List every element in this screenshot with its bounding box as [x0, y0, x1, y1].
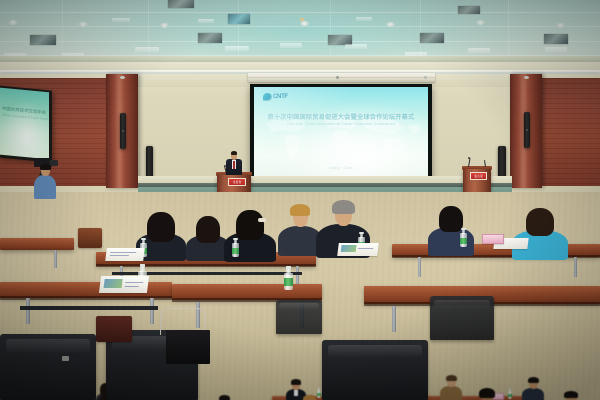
conference-hall-photo: CNTF 第十次中国国际贸易促进大会暨全球合作论坛开幕式 The 10th Ch…	[0, 0, 600, 400]
handbag	[96, 316, 132, 342]
wall-upper-band	[138, 74, 252, 87]
document	[337, 243, 379, 256]
document	[105, 248, 145, 261]
document	[99, 276, 149, 293]
attendee	[212, 396, 236, 400]
water-bottle	[232, 238, 239, 257]
ceiling-vent	[420, 33, 444, 43]
chair	[322, 340, 428, 400]
stage-wall-base	[138, 176, 512, 183]
ceiling-vent	[168, 0, 194, 8]
chair	[276, 300, 322, 334]
ceiling-vent	[458, 6, 480, 14]
cameraman	[34, 164, 56, 198]
chair	[0, 334, 96, 400]
podium-speaker	[226, 150, 242, 174]
attendee	[512, 210, 568, 258]
attendee	[296, 396, 322, 400]
ceiling-vent	[228, 14, 250, 24]
main-podium-sign: 主 席 台	[228, 178, 246, 186]
screen-glare	[254, 87, 428, 177]
ceiling-vent	[198, 33, 222, 43]
water-bottle	[460, 228, 467, 247]
wall-wood-panel-right	[540, 78, 600, 186]
projector-screen-housing	[248, 73, 435, 82]
main-podium-sign-text: 主 席 台	[229, 179, 245, 185]
water-bottle	[508, 389, 512, 399]
secondary-podium-sign: 发 言 席	[470, 172, 487, 180]
attendee	[440, 376, 462, 400]
desk-row-near-mid	[0, 238, 74, 250]
attendee	[522, 378, 544, 400]
attendee	[428, 208, 474, 254]
handbag	[78, 228, 102, 248]
water-bottle	[284, 266, 293, 290]
projection-screen-surface: CNTF 第十次中国国际贸易促进大会暨全球合作论坛开幕式 The 10th Ch…	[254, 87, 428, 177]
side-projection-screen: 中国合资技术交流年会 China Investment & Trade Foru…	[0, 85, 52, 162]
attendee	[470, 390, 504, 400]
name-card	[482, 234, 504, 244]
secondary-podium-sign-text: 发 言 席	[471, 173, 486, 179]
projection-screen: CNTF 第十次中国国际贸易促进大会暨全球合作论坛开幕式 The 10th Ch…	[250, 84, 432, 180]
ceiling-vent	[544, 34, 568, 44]
side-screen-surface: 中国合资技术交流年会 China Investment & Trade Foru…	[0, 88, 49, 160]
attendee	[556, 392, 586, 400]
ceiling-vent	[30, 35, 56, 45]
tote-bag	[166, 330, 210, 364]
chair	[430, 296, 494, 340]
